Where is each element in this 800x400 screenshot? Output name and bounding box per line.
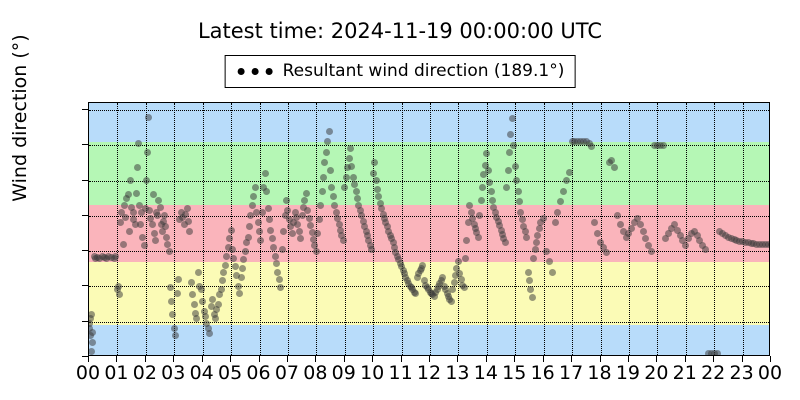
y-axis-tick-labels: 050100150200250300350 [0, 102, 800, 356]
chart-legend: Resultant wind direction (189.1°) [225, 55, 576, 88]
y-axis-tick [82, 180, 88, 181]
y-axis-tick [82, 109, 88, 110]
y-axis-tick [82, 285, 88, 286]
y-axis-tick [82, 144, 88, 145]
dot-marker-icon [236, 68, 273, 75]
y-axis-tick [82, 250, 88, 251]
legend-label: Resultant wind direction (189.1°) [283, 61, 565, 81]
x-axis-tick-label: 00 [750, 362, 790, 384]
y-axis-tick [82, 321, 88, 322]
wind-direction-figure: Latest time: 2024-11-19 00:00:00 UTC Res… [0, 0, 800, 400]
y-axis-title: Wind direction (°) [9, 0, 31, 245]
page-title: Latest time: 2024-11-19 00:00:00 UTC [0, 18, 800, 44]
y-axis-tick [82, 215, 88, 216]
